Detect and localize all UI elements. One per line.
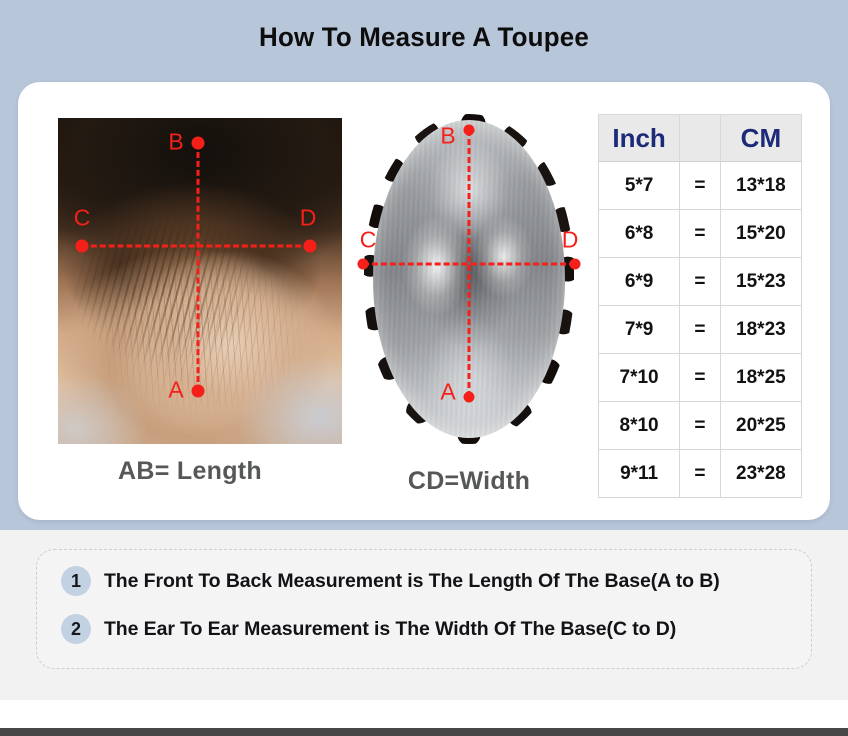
note-item: 1 The Front To Back Measurement is The L… xyxy=(61,566,720,596)
table-row: 7*10 = 18*25 xyxy=(599,354,802,402)
marker-dot-b xyxy=(192,137,205,150)
marker-label-d: D xyxy=(562,227,579,254)
marker-label-d: D xyxy=(300,205,317,232)
cell-inch: 6*9 xyxy=(599,258,680,306)
cell-cm: 13*18 xyxy=(720,162,801,210)
cell-equals: = xyxy=(680,402,721,450)
table-header-row: Inch CM xyxy=(599,115,802,162)
bottom-white-band xyxy=(0,700,848,728)
cell-cm: 18*23 xyxy=(720,306,801,354)
width-line-cd xyxy=(82,245,310,248)
note-badge-2: 2 xyxy=(61,614,91,644)
marker-label-c: C xyxy=(360,227,377,254)
cell-inch: 7*9 xyxy=(599,306,680,354)
note-item: 2 The Ear To Ear Measurement is The Widt… xyxy=(61,614,676,644)
marker-dot-b xyxy=(464,125,475,136)
note-badge-1: 1 xyxy=(61,566,91,596)
cell-inch: 5*7 xyxy=(599,162,680,210)
column-header-inch: Inch xyxy=(599,115,680,162)
table-row: 5*7 = 13*18 xyxy=(599,162,802,210)
cell-cm: 20*25 xyxy=(720,402,801,450)
marker-dot-d xyxy=(570,259,581,270)
cell-inch: 9*11 xyxy=(599,450,680,498)
marker-label-c: C xyxy=(74,205,91,232)
toupee-image: B A C D xyxy=(348,104,590,452)
cell-equals: = xyxy=(680,258,721,306)
infographic-page: How To Measure A Toupee B A C D AB= xyxy=(0,0,848,736)
cell-equals: = xyxy=(680,450,721,498)
table-row: 8*10 = 20*25 xyxy=(599,402,802,450)
marker-label-b: B xyxy=(168,129,183,156)
cell-equals: = xyxy=(680,354,721,402)
notes-box: 1 The Front To Back Measurement is The L… xyxy=(36,549,812,669)
table-row: 9*11 = 23*28 xyxy=(599,450,802,498)
marker-label-b: B xyxy=(440,123,455,150)
column-header-spacer xyxy=(680,115,721,162)
table-body: 5*7 = 13*18 6*8 = 15*20 6*9 = 15*23 7*9 … xyxy=(599,162,802,498)
table-row: 6*9 = 15*23 xyxy=(599,258,802,306)
table-head: Inch CM xyxy=(599,115,802,162)
caption-length: AB= Length xyxy=(40,457,340,486)
cell-equals: = xyxy=(680,210,721,258)
cell-cm: 15*23 xyxy=(720,258,801,306)
cell-cm: 18*25 xyxy=(720,354,801,402)
note-text-1: The Front To Back Measurement is The Len… xyxy=(104,570,720,593)
marker-dot-a xyxy=(192,385,205,398)
cell-equals: = xyxy=(680,306,721,354)
scalp-hairline-texture xyxy=(74,214,264,374)
marker-dot-a xyxy=(464,392,475,403)
page-title: How To Measure A Toupee xyxy=(17,22,831,53)
scalp-photo: B A C D xyxy=(58,118,342,444)
marker-label-a: A xyxy=(440,379,455,406)
table-row: 7*9 = 18*23 xyxy=(599,306,802,354)
marker-label-a: A xyxy=(168,377,183,404)
bottom-dark-band xyxy=(0,728,848,736)
content-card: B A C D AB= Length B xyxy=(18,82,830,520)
marker-dot-c xyxy=(76,240,89,253)
cell-cm: 15*20 xyxy=(720,210,801,258)
cell-inch: 8*10 xyxy=(599,402,680,450)
table-row: 6*8 = 15*20 xyxy=(599,210,802,258)
marker-dot-d xyxy=(304,240,317,253)
width-line-cd xyxy=(363,263,575,266)
length-line-ab xyxy=(197,143,200,391)
marker-dot-c xyxy=(358,259,369,270)
size-conversion-table: Inch CM 5*7 = 13*18 6*8 = 15*20 6*9 xyxy=(598,114,802,498)
cell-inch: 7*10 xyxy=(599,354,680,402)
column-header-cm: CM xyxy=(720,115,801,162)
note-text-2: The Ear To Ear Measurement is The Width … xyxy=(104,618,676,641)
cell-cm: 23*28 xyxy=(720,450,801,498)
cell-inch: 6*8 xyxy=(599,210,680,258)
caption-width: CD=Width xyxy=(340,467,598,496)
cell-equals: = xyxy=(680,162,721,210)
